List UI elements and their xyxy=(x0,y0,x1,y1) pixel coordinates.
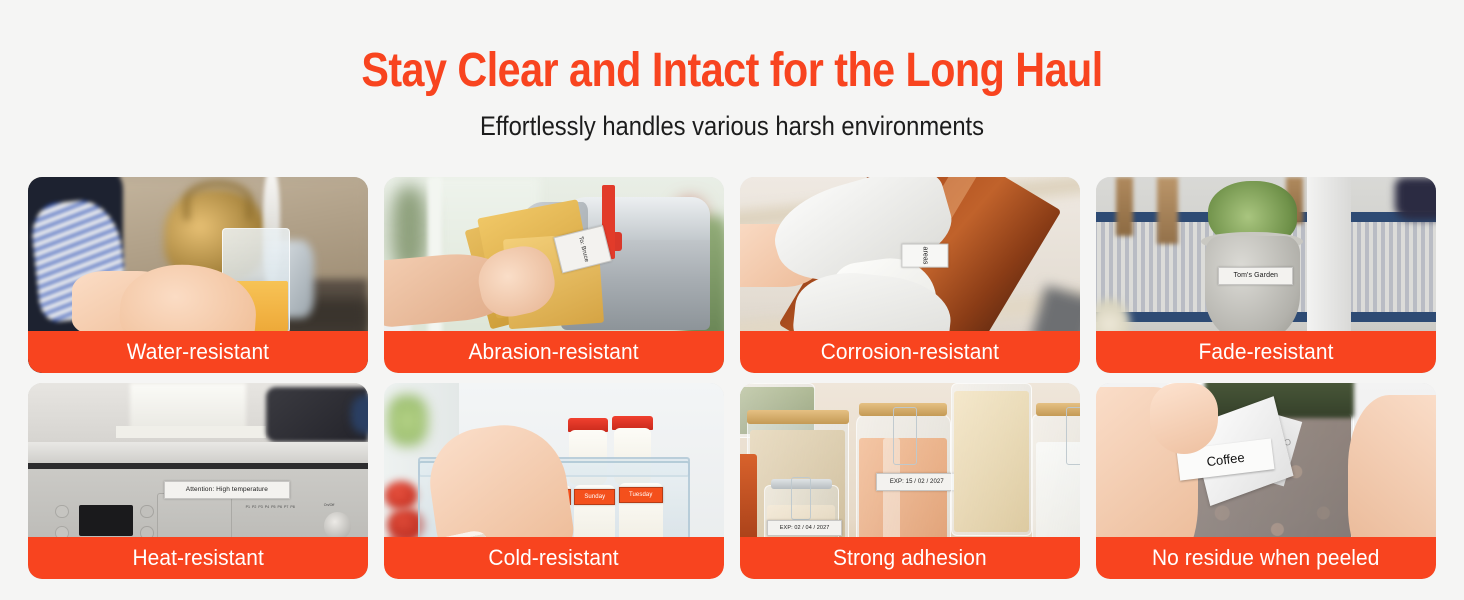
program-keys-row: P1 P2 P3 P4 P5 P6 P7 P8 xyxy=(246,505,295,509)
feature-card-no-residue[interactable]: Clean Coffee No residue when peeled xyxy=(1096,383,1436,579)
photo-label-toms-garden: Tom's Garden xyxy=(1218,267,1293,285)
photo-label-high-temperature: Attention: High temperature xyxy=(164,481,290,499)
caption-label: Corrosion-resistant xyxy=(821,339,999,365)
feature-card-abrasion-resistant[interactable]: To: Bruce Abrasion-resistant xyxy=(384,177,724,373)
feature-grid: Water-resistant To xyxy=(28,177,1436,579)
promo-banner: Stay Clear and Intact for the Long Haul … xyxy=(0,0,1464,600)
caption-heat-resistant: Heat-resistant xyxy=(28,537,368,579)
caption-corrosion-resistant: Corrosion-resistant xyxy=(740,331,1080,373)
feature-card-heat-resistant[interactable]: P1 P2 P3 P4 P5 P6 P7 P8 On/Off Attention… xyxy=(28,383,368,579)
caption-abrasion-resistant: Abrasion-resistant xyxy=(384,331,724,373)
caption-label: Abrasion-resistant xyxy=(469,339,639,365)
feature-card-fade-resistant[interactable]: Tom's Garden Fade-resistant xyxy=(1096,177,1436,373)
header: Stay Clear and Intact for the Long Haul … xyxy=(0,0,1464,142)
caption-strong-adhesion: Strong adhesion xyxy=(740,537,1080,579)
feature-card-water-resistant[interactable]: Water-resistant xyxy=(28,177,368,373)
photo-label-sunday: Sunday xyxy=(574,489,615,505)
feature-card-cold-resistant[interactable]: Monday Sunday Tuesday Cold-resistant xyxy=(384,383,724,579)
caption-fade-resistant: Fade-resistant xyxy=(1096,331,1436,373)
caption-label: Cold-resistant xyxy=(489,545,619,571)
caption-water-resistant: Water-resistant xyxy=(28,331,368,373)
caption-label: Water-resistant xyxy=(127,339,269,365)
photo-label-tuesday: Tuesday xyxy=(619,487,663,503)
caption-label: No residue when peeled xyxy=(1152,545,1380,571)
page-title: Stay Clear and Intact for the Long Haul xyxy=(102,45,1361,97)
page-subtitle: Effortlessly handles various harsh envir… xyxy=(88,111,1376,142)
photo-label-exp-15-02-2027: EXP: 15 / 02 / 2027 xyxy=(876,473,958,491)
caption-cold-resistant: Cold-resistant xyxy=(384,537,724,579)
feature-card-corrosion-resistant[interactable]: areas Corrosion-resistant xyxy=(740,177,1080,373)
caption-label: Heat-resistant xyxy=(132,545,263,571)
feature-card-strong-adhesion[interactable]: EXP: 02 / 04 / 2027 EXP: 15 / 02 / 2027 … xyxy=(740,383,1080,579)
caption-no-residue: No residue when peeled xyxy=(1096,537,1436,579)
photo-label-areas: areas xyxy=(902,243,949,267)
caption-label: Strong adhesion xyxy=(833,545,987,571)
photo-label-exp-02-04-2027: EXP: 02 / 04 / 2027 xyxy=(767,520,842,536)
power-label: On/Off xyxy=(324,503,335,507)
caption-label: Fade-resistant xyxy=(1199,339,1334,365)
